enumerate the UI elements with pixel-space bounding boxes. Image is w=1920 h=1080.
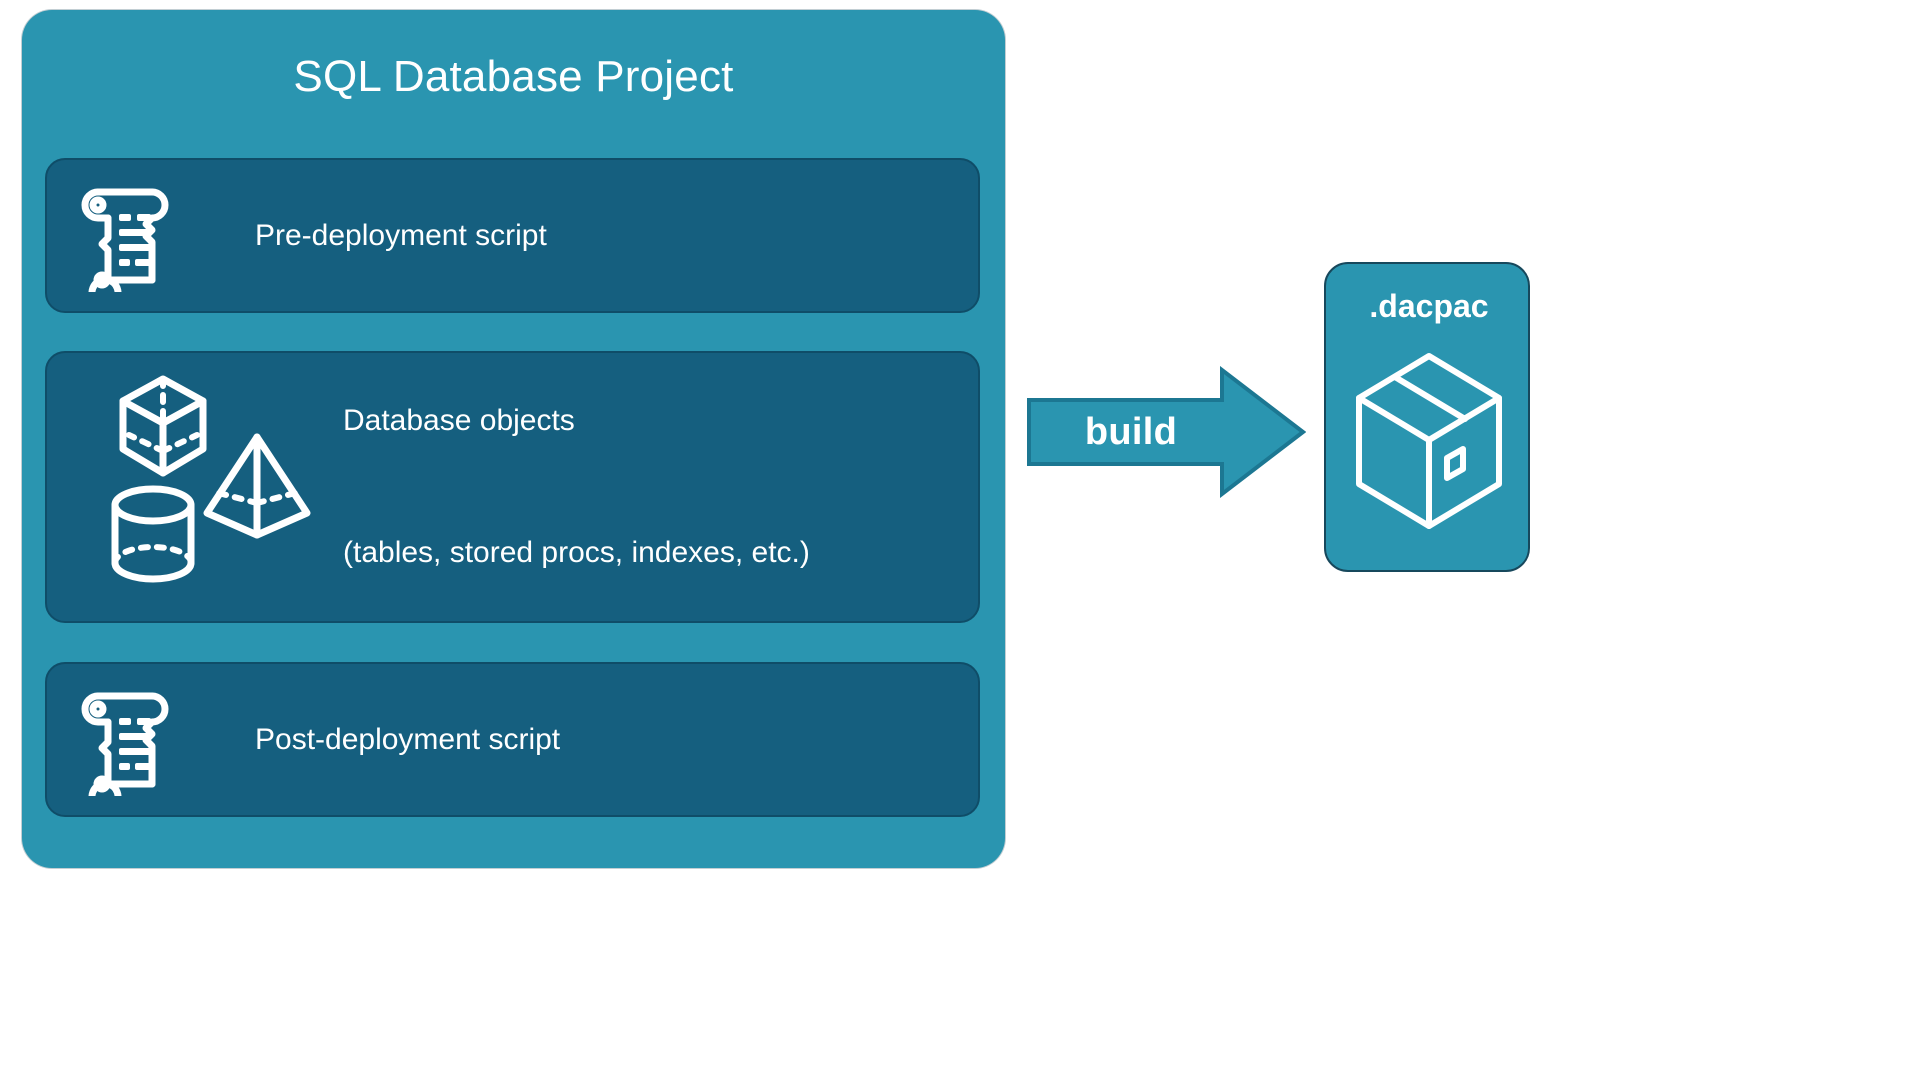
page-title: SQL Database Project (22, 48, 1005, 106)
panel-database-objects-label: Database objects (tables, stored procs, … (343, 353, 810, 621)
diagram-canvas: SQL Database Project (0, 0, 1920, 1080)
database-objects-line1: Database objects (343, 399, 810, 443)
sql-database-project-container: SQL Database Project (22, 10, 1005, 868)
scroll-icon (71, 160, 179, 311)
panel-post-deployment-label: Post-deployment script (255, 664, 560, 815)
right-arrow-icon (1026, 366, 1306, 498)
package-box-icon (1351, 348, 1507, 543)
dacpac-label: .dacpac (1326, 288, 1532, 325)
panel-post-deployment-script[interactable]: Post-deployment script (45, 662, 980, 817)
cylinder-icon (105, 481, 201, 596)
dacpac-artifact-card[interactable]: .dacpac (1324, 262, 1530, 572)
database-objects-line2: (tables, stored procs, indexes, etc.) (343, 531, 810, 575)
scroll-icon (71, 664, 179, 815)
database-objects-icon-group (87, 353, 337, 621)
panel-database-objects[interactable]: Database objects (tables, stored procs, … (45, 351, 980, 623)
panel-pre-deployment-script[interactable]: Pre-deployment script (45, 158, 980, 313)
pyramid-icon (197, 431, 317, 546)
panel-pre-deployment-label: Pre-deployment script (255, 160, 547, 311)
